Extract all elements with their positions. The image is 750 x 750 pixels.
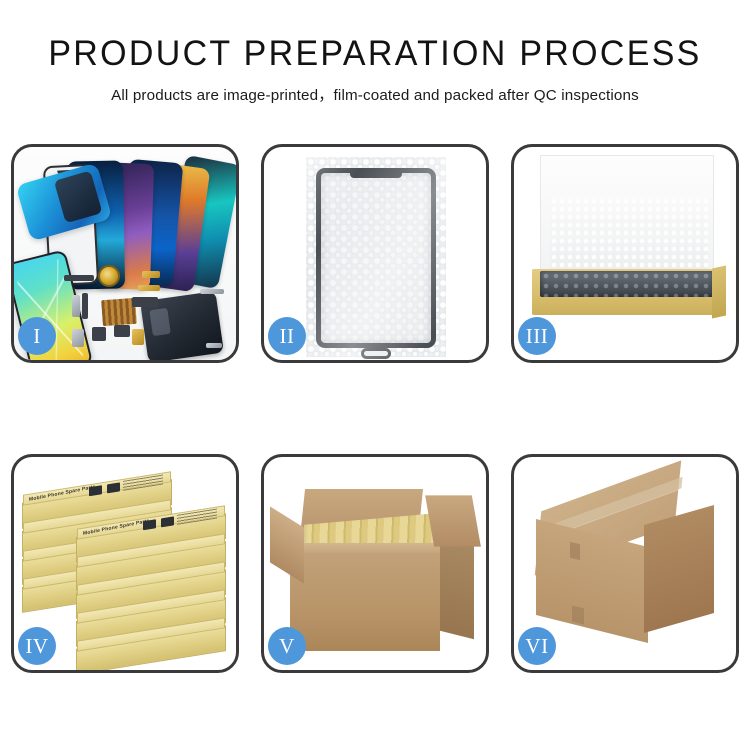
process-step-6: VI [511, 454, 739, 673]
spare-part [72, 329, 84, 347]
step-badge-2: II [268, 317, 306, 355]
carton-side [440, 531, 474, 639]
step-badge-5: V [268, 627, 306, 665]
copper-coil-part [98, 265, 120, 287]
carton-flap-left [270, 506, 304, 583]
phone-screen [316, 168, 436, 348]
step-badge-4: IV [18, 627, 56, 665]
home-button [361, 348, 391, 359]
process-step-2: II [261, 144, 489, 363]
spare-part [132, 329, 144, 345]
carton-seam [572, 606, 584, 625]
carton-flap-right [425, 495, 481, 546]
spare-part [132, 297, 158, 307]
step-badge-6: VI [518, 627, 556, 665]
process-step-4: Mobile Phone Spare Parts Mobile Phone Sp… [11, 454, 239, 673]
process-step-1: I [11, 144, 239, 363]
page-subtitle: All products are image-printed，film-coat… [0, 83, 750, 105]
step-badge-1: I [18, 317, 56, 355]
carton-seam [570, 542, 580, 560]
spare-part [206, 343, 222, 348]
spare-part [92, 327, 106, 341]
spare-part [82, 293, 88, 319]
carton-side [644, 505, 714, 633]
spare-part [114, 325, 130, 337]
spare-part [200, 289, 224, 294]
process-step-grid: I II III [11, 144, 739, 692]
process-step-5: V [261, 454, 489, 673]
foam-padding [550, 197, 708, 275]
carton-front [290, 553, 440, 651]
spare-part [64, 275, 94, 281]
page-title: PRODUCT PREPARATION PROCESS [11, 34, 739, 74]
process-step-3: III [511, 144, 739, 363]
spare-part [138, 285, 160, 291]
wrapped-screen-in-box [540, 271, 714, 297]
step-badge-3: III [518, 317, 556, 355]
header: PRODUCT PREPARATION PROCESS All products… [0, 0, 750, 105]
box-flap [712, 266, 726, 319]
spare-part [142, 271, 160, 278]
product-preparation-infographic: PRODUCT PREPARATION PROCESS All products… [0, 0, 750, 750]
spare-part [72, 295, 80, 317]
